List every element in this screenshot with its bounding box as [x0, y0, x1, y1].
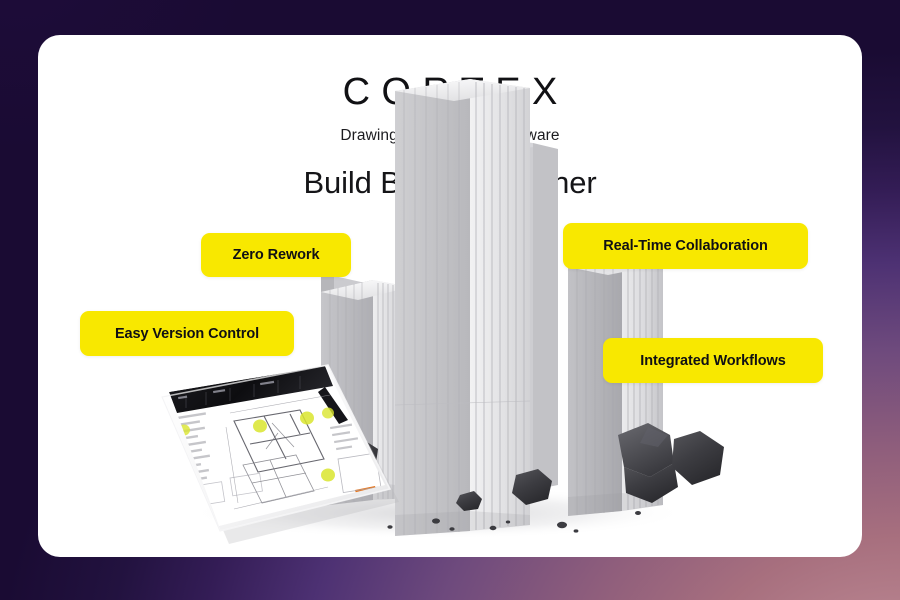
badge-label: Easy Version Control: [115, 326, 259, 342]
badge-zero-rework: Zero Rework: [201, 233, 351, 277]
building-center-tower: [395, 79, 558, 536]
marketing-card: CORTEX Drawing Management Software Build…: [38, 35, 862, 557]
hero-illustration: [38, 35, 862, 557]
badge-label: Integrated Workflows: [640, 353, 785, 369]
badge-easy-version-control: Easy Version Control: [80, 311, 294, 356]
badge-label: Zero Rework: [233, 247, 320, 263]
badge-label: Real-Time Collaboration: [603, 238, 768, 254]
badge-integrated-workflows: Integrated Workflows: [603, 338, 823, 383]
rock-cluster-right: [618, 423, 724, 503]
badge-real-time-collaboration: Real-Time Collaboration: [563, 223, 808, 269]
